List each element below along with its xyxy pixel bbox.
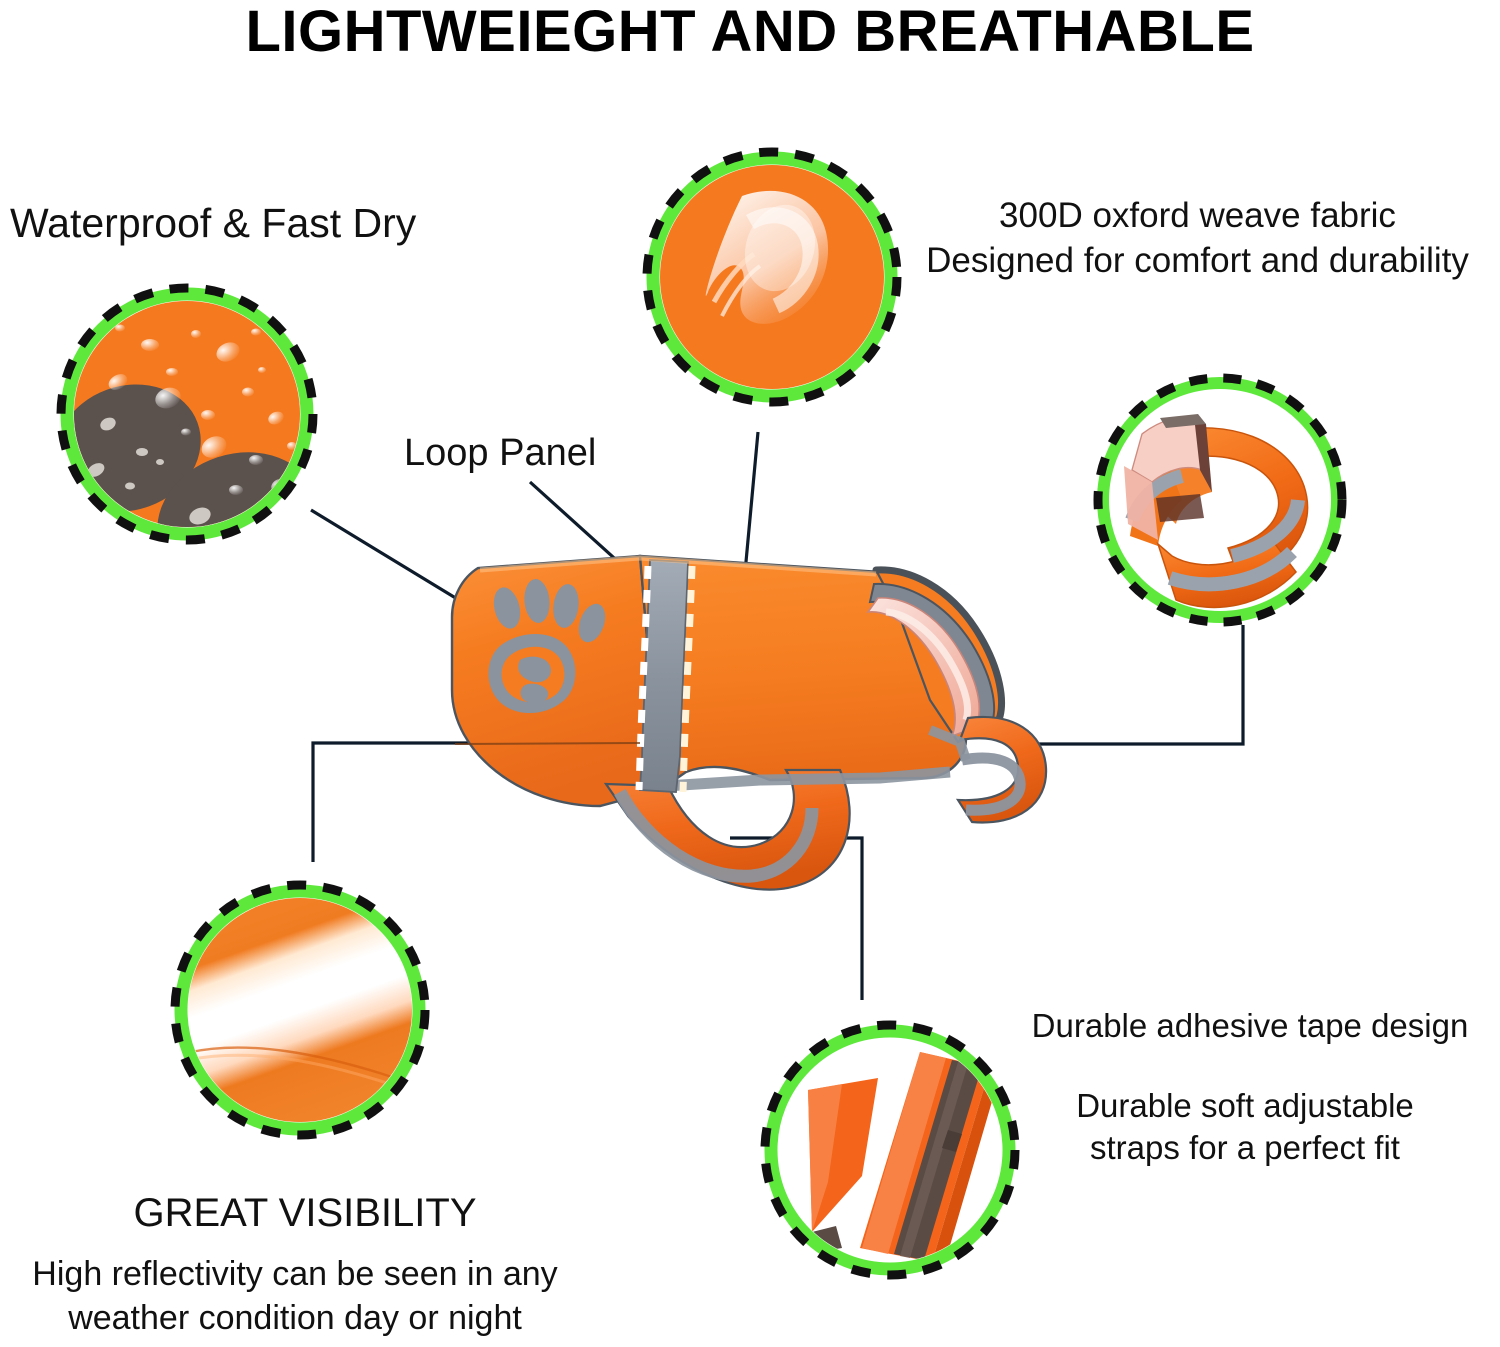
callout-great-visibility <box>153 862 452 1161</box>
callout-waterproof <box>37 288 336 608</box>
callout-adjustable-strap <box>1098 378 1350 630</box>
callout-oxford-fabric <box>647 152 900 405</box>
infographic-canvas: LIGHTWEIEGHT AND BREATHABLE <box>0 0 1500 1347</box>
callout-adhesive-tape <box>765 1025 1020 1280</box>
callout-circles <box>0 0 1500 1347</box>
